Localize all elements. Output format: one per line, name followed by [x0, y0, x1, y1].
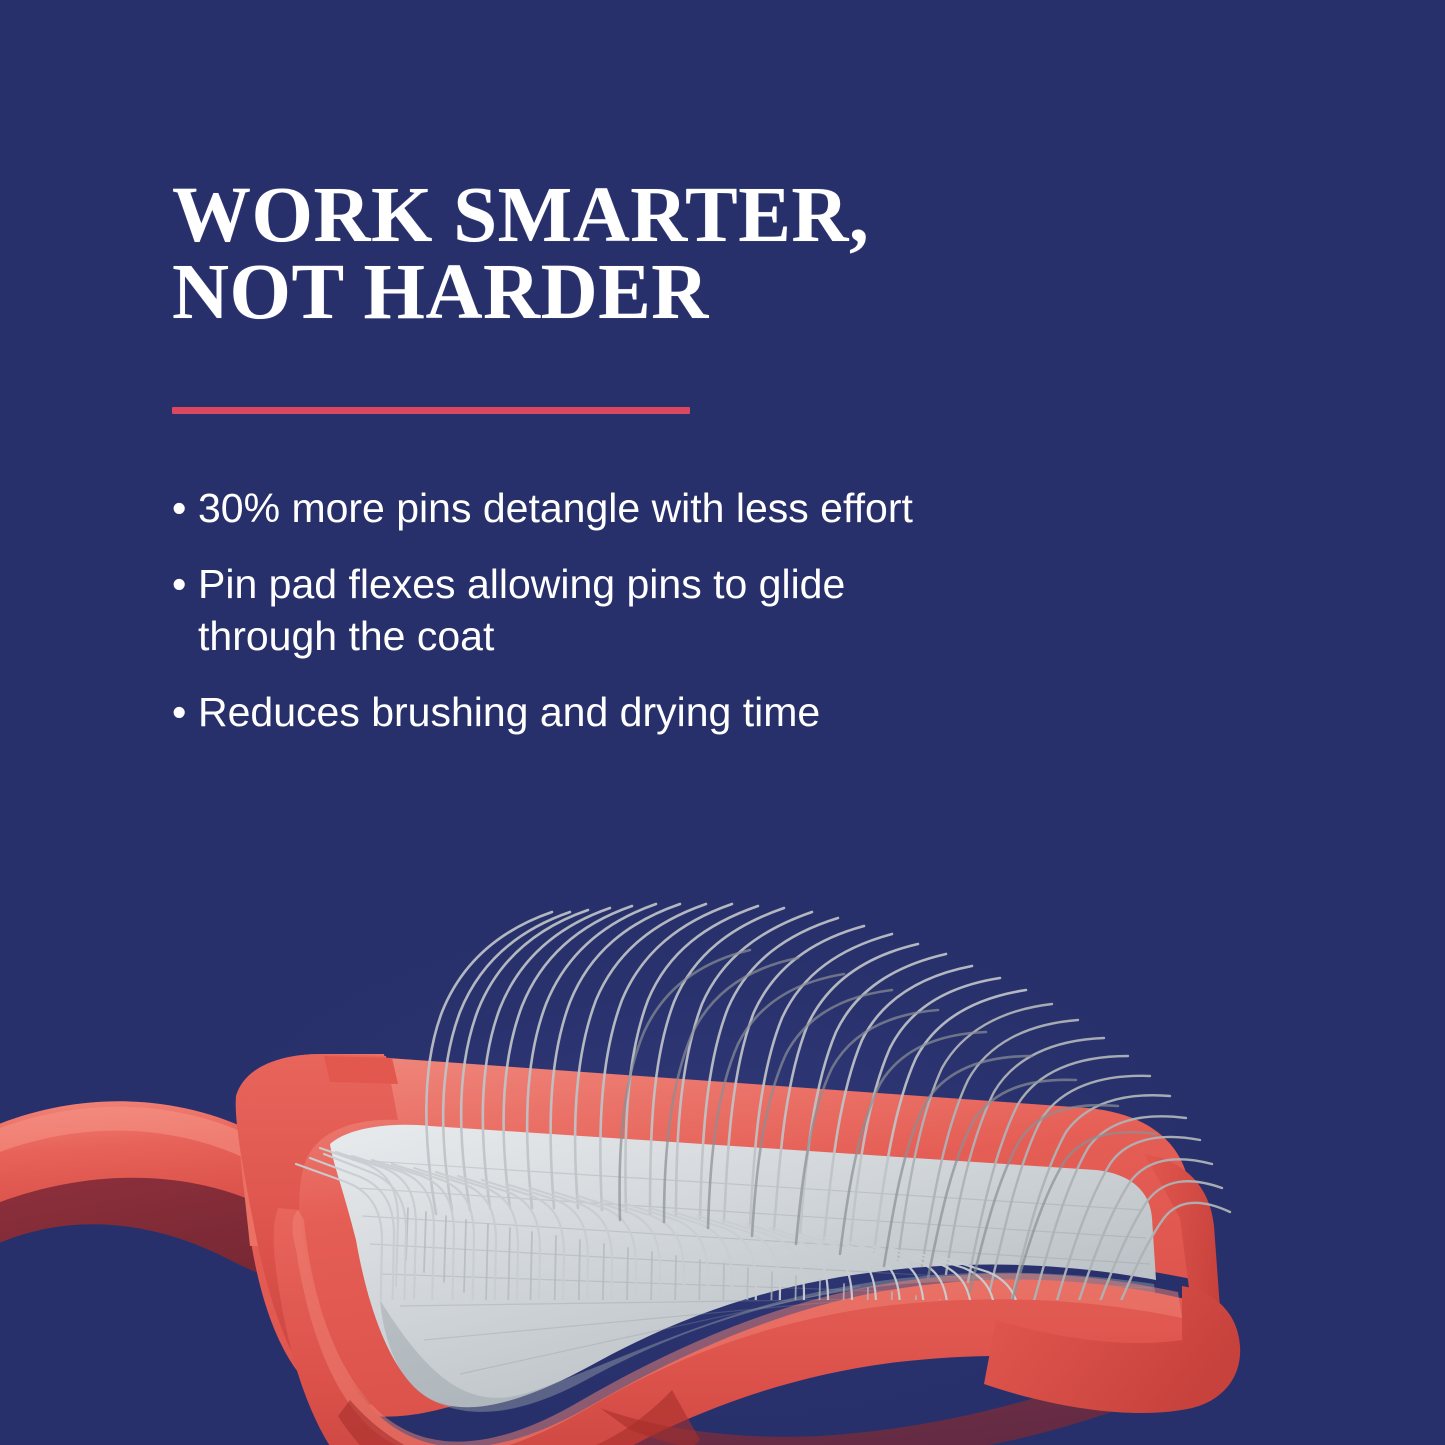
feature-list: • 30% more pins detangle with less effor… — [172, 482, 1032, 762]
bullet-marker-icon: • — [172, 482, 198, 534]
brush-head-body — [232, 1054, 1240, 1445]
product-image — [0, 740, 1445, 1445]
page-title: WORK SMARTER, NOT HARDER — [172, 178, 1072, 331]
list-item: • 30% more pins detangle with less effor… — [172, 482, 1032, 534]
bullet-marker-icon: • — [172, 558, 198, 610]
brush-head-tab — [324, 1056, 398, 1084]
marketing-graphic: WORK SMARTER, NOT HARDER • 30% more pins… — [0, 0, 1445, 1445]
divider-rule — [172, 407, 690, 414]
list-item: • Reduces brushing and drying time — [172, 686, 1032, 738]
list-item: • Pin pad flexes allowing pins to glide … — [172, 558, 1032, 662]
bullet-marker-icon: • — [172, 686, 198, 738]
list-item-label: Reduces brushing and drying time — [198, 686, 1032, 738]
slicker-brush-illustration — [0, 740, 1445, 1445]
list-item-label: Pin pad flexes allowing pins to glide th… — [198, 558, 1032, 662]
list-item-label: 30% more pins detangle with less effort — [198, 482, 1032, 534]
